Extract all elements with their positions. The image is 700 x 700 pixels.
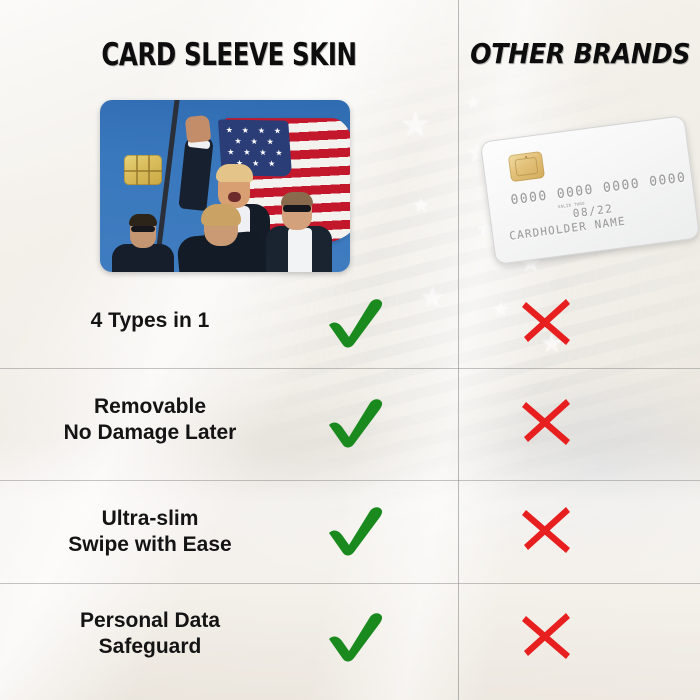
feature-label-safeguard: Personal Data Safeguard — [0, 608, 300, 659]
row-divider-1 — [0, 368, 700, 369]
row-divider-3 — [0, 583, 700, 584]
cross-mark-safeguard — [513, 606, 583, 666]
other-brand-card: 0000 0000 0000 0000 VALID THRU 08/22 CAR… — [480, 115, 700, 265]
column-divider — [458, 0, 459, 700]
check-mark-types — [320, 292, 390, 352]
check-icon — [320, 292, 390, 352]
column-header-ours: CARD SLEEVE SKIN — [27, 40, 430, 71]
emv-chip-icon — [124, 155, 162, 185]
right-agent-hair — [281, 192, 313, 206]
feature-label-removable: Removable No Damage Later — [0, 394, 300, 445]
check-mark-ultra-slim — [320, 500, 390, 560]
left-agent-body — [112, 244, 174, 272]
cross-icon — [513, 606, 583, 666]
cross-mark-types — [513, 292, 583, 352]
central-figure-mouth — [228, 192, 241, 202]
feature-line: Personal Data — [0, 608, 300, 634]
cross-mark-ultra-slim — [513, 500, 583, 560]
cross-icon — [513, 392, 583, 452]
row-divider-2 — [0, 480, 700, 481]
raised-fist — [185, 115, 212, 143]
feature-line: Safeguard — [0, 634, 300, 660]
cross-icon — [513, 292, 583, 352]
feature-label-ultra-slim: Ultra-slim Swipe with Ease — [0, 506, 300, 557]
product-card-image: ★ ★ ★ ★ ★ ★ ★ ★ ★ ★ ★ ★ ★ ★ — [100, 100, 350, 272]
front-agent-hair — [201, 204, 241, 226]
right-agent-sunglasses-icon — [283, 205, 311, 212]
cross-icon — [513, 500, 583, 560]
emv-chip-icon — [508, 151, 545, 182]
left-agent-hair — [129, 214, 157, 226]
central-figure-hair — [216, 164, 253, 182]
check-mark-safeguard — [320, 606, 390, 666]
check-icon — [320, 500, 390, 560]
check-mark-removable — [320, 392, 390, 452]
cross-mark-removable — [513, 392, 583, 452]
left-agent-sunglasses-icon — [131, 226, 155, 232]
right-agent-shirt — [288, 228, 312, 272]
cardholder-name: CARDHOLDER NAME — [509, 215, 627, 243]
comparison-chart: ★ ★ ★ ★ ★ ★ ★ ★ ★ ★ CARD SLEEVE SKIN OTH… — [0, 0, 700, 700]
feature-line: No Damage Later — [0, 420, 300, 446]
feature-line: Removable — [0, 394, 300, 420]
feature-line: Swipe with Ease — [0, 532, 300, 558]
column-header-others: OTHER BRANDS — [470, 40, 688, 68]
feature-line: 4 Types in 1 — [0, 308, 300, 334]
check-icon — [320, 392, 390, 452]
check-icon — [320, 606, 390, 666]
feature-label-types: 4 Types in 1 — [0, 308, 300, 334]
feature-line: Ultra-slim — [0, 506, 300, 532]
